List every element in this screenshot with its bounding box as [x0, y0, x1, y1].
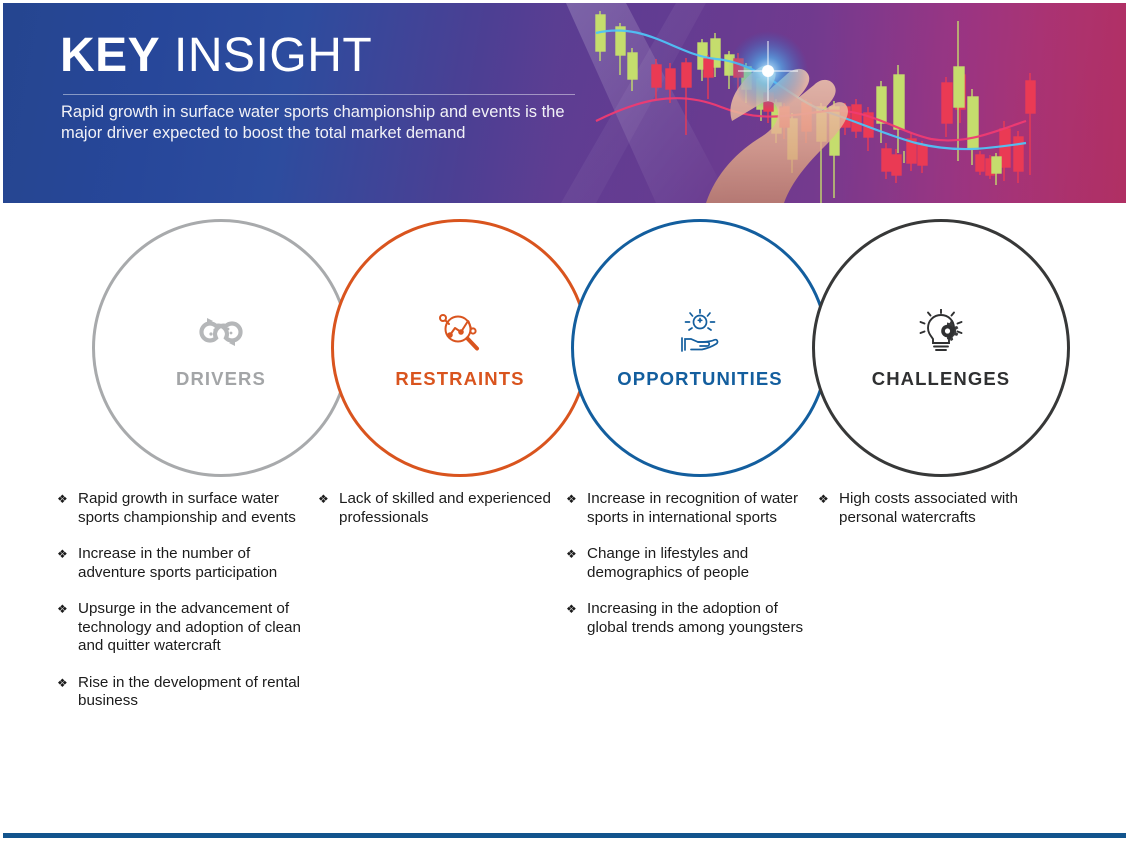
header-photo [556, 3, 1126, 203]
bullet-marker-icon: ❖ [318, 490, 329, 509]
list-item-text: Increase in the number of adventure spor… [78, 545, 277, 581]
list-item: ❖ Rapid growth in surface water sports c… [57, 490, 302, 527]
list-item-text: Increase in recognition of water sports … [587, 490, 798, 526]
bullet-column-restraints: ❖ Lack of skilled and experienced profes… [318, 490, 563, 545]
header-divider [63, 94, 575, 95]
segment-bullet-columns: ❖ Rapid growth in surface water sports c… [0, 490, 1129, 810]
cycle-infinity-icon [193, 306, 249, 358]
header-title-block: KEY INSIGHT [60, 27, 580, 85]
segment-label-challenges: CHALLENGES [872, 368, 1010, 390]
segment-label-drivers: DRIVERS [176, 368, 266, 390]
bullet-marker-icon: ❖ [57, 490, 68, 509]
list-item-text: Lack of skilled and experienced professi… [339, 490, 551, 526]
list-item: ❖ Change in lifestyles and demographics … [566, 545, 806, 582]
bullet-marker-icon: ❖ [566, 490, 577, 509]
segment-circle-drivers[interactable]: DRIVERS [92, 219, 350, 477]
list-item-text: Rise in the development of rental busine… [78, 674, 300, 710]
list-item: ❖ Increase in recognition of water sport… [566, 490, 806, 527]
bullet-marker-icon: ❖ [818, 490, 829, 509]
segment-label-restraints: RESTRAINTS [395, 368, 524, 390]
page-title-bold: KEY [60, 29, 160, 82]
header-subtitle: Rapid growth in surface water sports cha… [61, 102, 577, 144]
bullet-marker-icon: ❖ [566, 600, 577, 619]
page-title-light: INSIGHT [160, 29, 372, 82]
list-item: ❖ Rise in the development of rental busi… [57, 674, 302, 711]
list-item: ❖ Increase in the number of adventure sp… [57, 545, 302, 582]
list-item-text: Upsurge in the advancement of technology… [78, 600, 301, 654]
page-title: KEY INSIGHT [60, 27, 580, 85]
infographic-page: KEY INSIGHT Rapid growth in surface wate… [0, 0, 1129, 845]
bullet-marker-icon: ❖ [57, 545, 68, 564]
bullet-marker-icon: ❖ [566, 545, 577, 564]
bullet-marker-icon: ❖ [57, 674, 68, 693]
header-banner: KEY INSIGHT Rapid growth in surface wate… [3, 3, 1126, 203]
hand-sun-idea-icon [672, 306, 728, 358]
list-item-text: Increasing in the adoption of global tre… [587, 600, 803, 636]
bullet-column-drivers: ❖ Rapid growth in surface water sports c… [57, 490, 302, 729]
segment-circle-restraints[interactable]: RESTRAINTS [331, 219, 589, 477]
lightbulb-gear-icon [913, 306, 969, 358]
list-item-text: Change in lifestyles and demographics of… [587, 545, 749, 581]
magnifier-chart-icon [432, 306, 488, 358]
list-item-text: High costs associated with personal wate… [839, 490, 1018, 526]
bullet-column-challenges: ❖ High costs associated with personal wa… [818, 490, 1063, 545]
segment-circle-challenges[interactable]: CHALLENGES [812, 219, 1070, 477]
bullet-column-opportunities: ❖ Increase in recognition of water sport… [566, 490, 806, 655]
segment-circle-opportunities[interactable]: OPPORTUNITIES [571, 219, 829, 477]
candlestick-chart-graphic [556, 3, 1126, 203]
bullet-marker-icon: ❖ [57, 600, 68, 619]
list-item: ❖ High costs associated with personal wa… [818, 490, 1063, 527]
list-item: ❖ Increasing in the adoption of global t… [566, 600, 806, 637]
list-item: ❖ Lack of skilled and experienced profes… [318, 490, 563, 527]
segment-label-opportunities: OPPORTUNITIES [617, 368, 782, 390]
segment-circle-row: DRIVERS [0, 215, 1129, 490]
footer-divider [3, 833, 1126, 838]
list-item: ❖ Upsurge in the advancement of technolo… [57, 600, 302, 656]
list-item-text: Rapid growth in surface water sports cha… [78, 490, 296, 526]
